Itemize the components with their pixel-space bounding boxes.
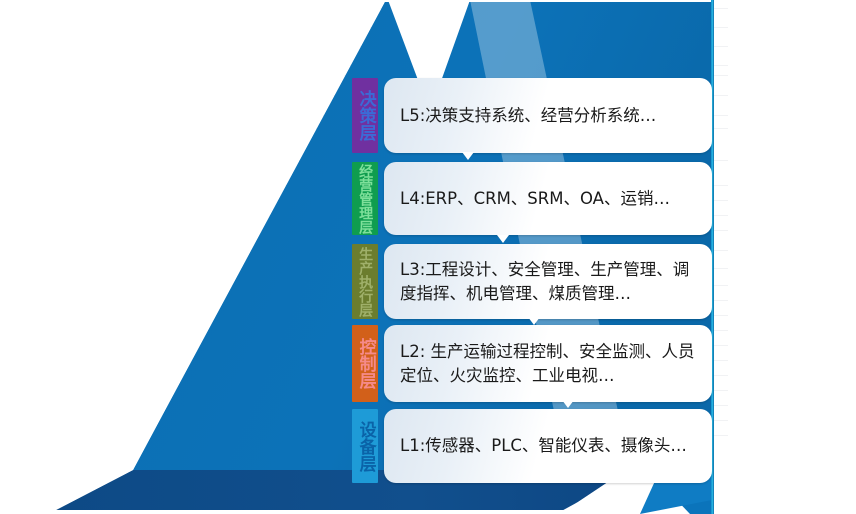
pyramid-layer-l4[interactable]: 经营管理层L4:ERP、CRM、SRM、OA、运销… bbox=[352, 162, 712, 235]
layer-card-l3[interactable]: L3:工程设计、安全管理、生产管理、调度指挥、机电管理、煤质管理… bbox=[384, 244, 712, 319]
flow-chevron-icon bbox=[528, 317, 540, 325]
layer-card-text: L2: 生产运输过程控制、安全监测、人员定位、火灾监控、工业电视… bbox=[400, 340, 698, 387]
layer-tab-label: 设备层 bbox=[356, 421, 373, 472]
layer-tab-l3[interactable]: 生产执行层 bbox=[352, 244, 378, 319]
layer-card-text: L5:决策支持系统、经营分析系统… bbox=[400, 104, 656, 127]
flow-chevron-icon bbox=[497, 235, 509, 243]
pyramid-layer-list: 决策层L5:决策支持系统、经营分析系统…经营管理层L4:ERP、CRM、SRM、… bbox=[0, 0, 856, 514]
layer-tab-l1[interactable]: 设备层 bbox=[352, 409, 378, 483]
pyramid-layer-l2[interactable]: 控制层L2: 生产运输过程控制、安全监测、人员定位、火灾监控、工业电视… bbox=[352, 325, 712, 402]
layer-tab-label: 经营管理层 bbox=[358, 164, 372, 234]
layer-tab-label: 决策层 bbox=[356, 90, 373, 141]
layer-card-text: L1:传感器、PLC、智能仪表、摄像头… bbox=[400, 434, 687, 457]
layer-card-l5[interactable]: L5:决策支持系统、经营分析系统… bbox=[384, 78, 712, 153]
layer-tab-label: 控制层 bbox=[356, 338, 373, 389]
pyramid-layer-l3[interactable]: 生产执行层L3:工程设计、安全管理、生产管理、调度指挥、机电管理、煤质管理… bbox=[352, 244, 712, 319]
pyramid-layer-l1[interactable]: 设备层L1:传感器、PLC、智能仪表、摄像头… bbox=[352, 409, 712, 483]
pyramid-layer-l5[interactable]: 决策层L5:决策支持系统、经营分析系统… bbox=[352, 78, 712, 153]
layer-tab-l5[interactable]: 决策层 bbox=[352, 78, 378, 153]
layer-card-l4[interactable]: L4:ERP、CRM、SRM、OA、运销… bbox=[384, 162, 712, 235]
layer-tab-label: 生产执行层 bbox=[358, 247, 372, 317]
layer-card-text: L4:ERP、CRM、SRM、OA、运销… bbox=[400, 187, 670, 210]
layer-card-l1[interactable]: L1:传感器、PLC、智能仪表、摄像头… bbox=[384, 409, 712, 483]
flow-chevron-icon bbox=[562, 400, 574, 408]
flow-chevron-icon bbox=[462, 152, 474, 160]
layer-tab-l2[interactable]: 控制层 bbox=[352, 325, 378, 402]
layer-card-l2[interactable]: L2: 生产运输过程控制、安全监测、人员定位、火灾监控、工业电视… bbox=[384, 325, 712, 402]
layer-card-text: L3:工程设计、安全管理、生产管理、调度指挥、机电管理、煤质管理… bbox=[400, 258, 698, 305]
layer-tab-l4[interactable]: 经营管理层 bbox=[352, 162, 378, 235]
slide-canvas: 决策层L5:决策支持系统、经营分析系统…经营管理层L4:ERP、CRM、SRM、… bbox=[0, 0, 856, 514]
